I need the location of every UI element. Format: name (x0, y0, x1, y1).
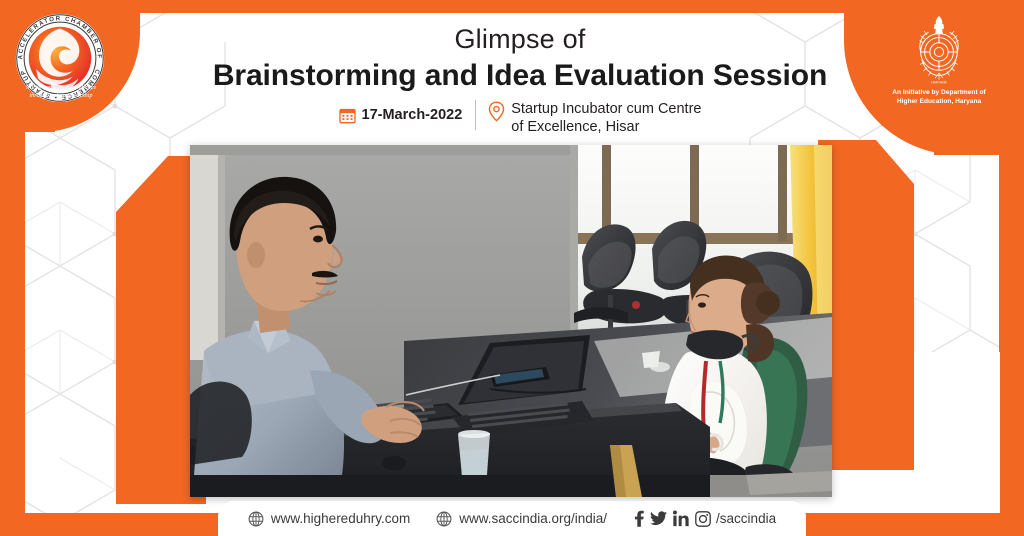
footer-link-highereduhry[interactable]: www.highereduhry.com (248, 511, 410, 527)
linkedin-icon[interactable] (673, 510, 689, 527)
location-pin-icon (488, 101, 505, 122)
haryana-emblem-icon: HARYANA (906, 14, 972, 86)
event-location: Startup Incubator cum Centre of Excellen… (476, 100, 701, 136)
instagram-icon[interactable] (695, 511, 711, 527)
event-location-label: Startup Incubator cum Centre of Excellen… (511, 100, 701, 136)
calendar-icon (339, 107, 356, 124)
svg-text:HARYANA: HARYANA (931, 80, 947, 84)
footer-link-label: www.highereduhry.com (271, 511, 410, 526)
sacc-tagline-line1: Nurturing human excellence (6, 84, 116, 92)
twitter-icon[interactable] (650, 511, 667, 526)
event-photo (190, 145, 832, 497)
photo-plate-right (818, 140, 914, 470)
event-poster: ACCELERATOR CHAMBER OF COMMERCE • STARTU… (0, 0, 1024, 536)
footer-link-label: www.saccindia.org/india/ (459, 511, 607, 526)
globe-icon (248, 511, 264, 527)
event-location-line2: of Excellence, Hisar (511, 119, 639, 135)
footer-link-saccindia[interactable]: www.saccindia.org/india/ (436, 511, 607, 527)
event-date: 17-March-2022 (339, 100, 477, 130)
social-icons (633, 510, 711, 527)
facebook-icon[interactable] (633, 510, 644, 527)
globe-icon (436, 511, 452, 527)
haryana-tagline-line1: An Initiative by Department of (866, 88, 1012, 97)
sacc-tagline-line2: through entrepreneurship (6, 92, 116, 100)
pretitle: Glimpse of (170, 22, 870, 56)
event-location-line1: Startup Incubator cum Centre (511, 101, 701, 117)
page-title: Brainstorming and Idea Evaluation Sessio… (170, 56, 870, 96)
footer-bar: www.highereduhry.com www.saccindia.org/i… (218, 501, 806, 536)
event-date-label: 17-March-2022 (362, 107, 463, 123)
footer-social: /saccindia (633, 510, 776, 527)
haryana-tagline-line2: Higher Education, Haryana (866, 97, 1012, 106)
sacc-logo-tagline: Nurturing human excellence through entre… (6, 84, 116, 100)
social-handle: /saccindia (716, 511, 776, 526)
poster-header: Glimpse of Brainstorming and Idea Evalua… (170, 22, 870, 96)
haryana-emblem-tagline: An Initiative by Department of Higher Ed… (866, 88, 1012, 106)
event-meta: 17-March-2022 Startup Incubator cum Cent… (170, 100, 870, 136)
